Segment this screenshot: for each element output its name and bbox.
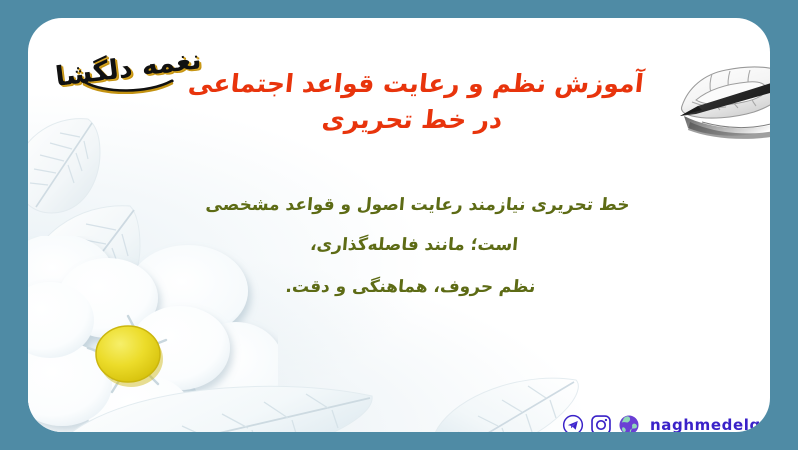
body-line-1: خط تحریری نیازمند رعایت اصول و قواعد مشخ… [176,186,655,266]
brand-logo: نغمه دلگشا [76,34,180,102]
paper-leaf-bottom-center-icon [38,374,378,432]
body-line-2: نظم حروف، هماهنگی و دقت. [173,268,648,308]
body-paragraph: خط تحریری نیازمند رعایت اصول و قواعد مشخ… [173,186,656,308]
globe-icon[interactable] [618,414,640,432]
instagram-icon[interactable] [590,414,612,432]
social-handle[interactable]: naghmedelgosha [650,416,770,432]
page-title: آموزش نظم و رعایت قواعد اجتماعی در خط تح… [174,66,654,139]
white-card: نغمه دلگشا [28,18,770,432]
social-links-row: naghmedelgosha [562,414,770,432]
telegram-icon[interactable] [562,414,584,432]
logo-swash-icon [82,78,174,94]
hand-writing-with-pen-icon [668,44,770,152]
paper-leaf-bottom-right-icon [424,370,584,432]
poster-canvas: نغمه دلگشا [0,0,798,450]
